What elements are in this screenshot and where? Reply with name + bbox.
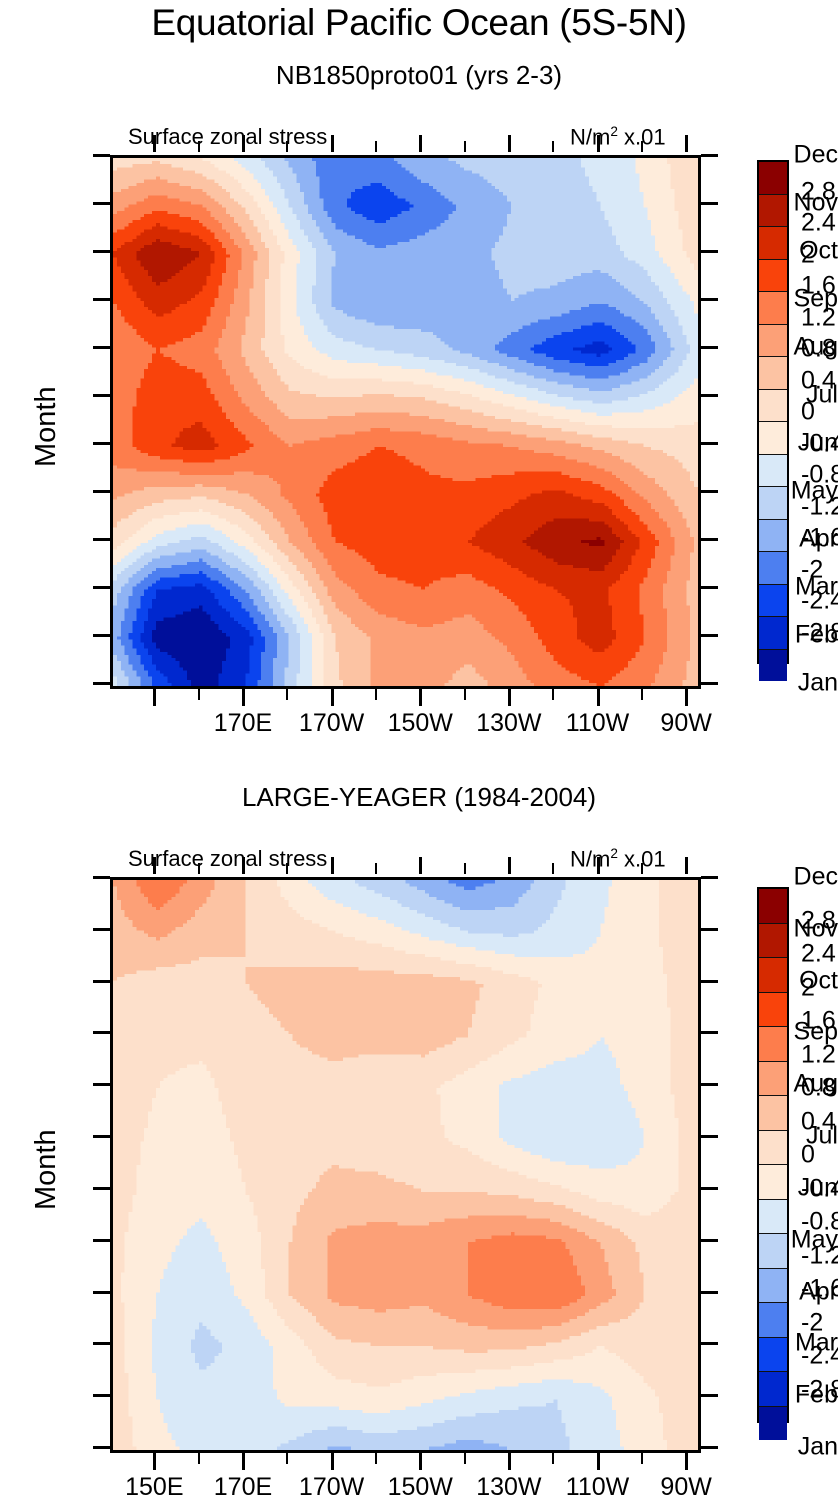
colorbar-tick-label: 2.4 [801,209,836,238]
colorbar-band [759,1233,787,1268]
x-axis-tick-mark [685,1453,688,1470]
colorbar-band [759,291,787,324]
y-axis-tick-mark-right [701,876,718,879]
colorbar-tick-label: 1.2 [801,303,836,332]
y-axis-tick-mark-right [701,394,718,397]
colorbar-band [759,1164,787,1199]
y-axis-tick-mark [93,394,110,397]
x-axis-minor-tick [552,689,554,700]
hovmoller-panel-top: Surface zonal stressN/m2 x.01DecNovOctSe… [0,0,838,770]
colorbar-band [759,1026,787,1061]
colorbar-tick-label: -2.8 [801,618,838,647]
units-label: N/m2 x.01 [570,846,666,872]
y-axis-tick-mark-right [701,1187,718,1190]
colorbar-tick-label: -0.4 [801,429,838,458]
y-axis-tick-mark [93,1394,110,1397]
x-axis-tick-mark-top [597,857,600,874]
colorbar-tick-label: -2.8 [801,1375,838,1404]
x-axis-minor-tick [375,141,377,152]
colorbar-band [759,616,787,649]
y-axis-tick-mark [93,346,110,349]
colorbar-band [759,1061,787,1096]
x-axis-minor-tick [286,141,288,152]
colorbar-tick-label: 0.8 [801,335,836,364]
colorbar-tick-label: 2.8 [801,177,836,206]
colorbar-band [759,486,787,519]
x-axis-tick-mark-top [153,135,156,152]
x-axis-minor-tick [464,689,466,700]
x-axis-tick-mark [419,689,422,706]
colorbar-band [759,259,787,292]
colorbar-tick-label: -2.4 [801,1342,838,1371]
y-axis-title: Month [30,386,63,467]
x-axis-tick-mark [153,1453,156,1470]
y-axis-tick-mark [93,490,110,493]
x-axis-tick-label: 90W [660,1473,711,1502]
colorbar-band [759,923,787,958]
contour-plot-area [110,877,701,1453]
colorbar-tick-label: -2 [801,1308,823,1337]
colorbar-tick-label: 1.2 [801,1040,836,1069]
y-axis-tick-mark-right [701,202,718,205]
x-axis-minor-tick [464,141,466,152]
colorbar-band [759,1337,787,1372]
x-axis-minor-tick [286,689,288,700]
x-axis-tick-mark-top [419,857,422,874]
x-axis-tick-mark-top [242,135,245,152]
x-axis-tick-mark-top [419,135,422,152]
x-axis-minor-tick [198,141,200,152]
x-axis-minor-tick [198,863,200,874]
x-axis-minor-tick [552,141,554,152]
x-axis-tick-label: 150E [125,1473,183,1502]
y-axis-tick-mark [93,1083,110,1086]
colorbar-band [759,356,787,389]
y-axis-tick-mark-right [701,250,718,253]
y-axis-tick-mark [93,586,110,589]
y-axis-tick-mark [93,1291,110,1294]
colorbar-band [759,162,787,194]
colorbar-tick-label: -0.8 [801,461,838,490]
x-axis-tick-mark-top [331,857,334,874]
x-axis-tick-mark-top [508,857,511,874]
y-axis-tick-mark [93,1342,110,1345]
x-axis-minor-tick [464,1453,466,1464]
colorbar-band [759,584,787,617]
y-axis-tick-mark [93,1135,110,1138]
x-axis-minor-tick [464,863,466,874]
colorbar-tick-label: -1.6 [801,1275,838,1304]
x-axis-tick-mark [685,689,688,706]
colorbar-band [759,551,787,584]
y-axis-tick-mark [93,1031,110,1034]
x-axis-tick-mark-top [597,135,600,152]
x-axis-tick-label: 130W [476,1473,541,1502]
y-axis-title: Month [30,1129,63,1210]
colorbar-tick-label: 2 [801,973,815,1002]
colorbar-band [759,226,787,259]
y-axis-tick-mark-right [701,154,718,157]
colorbar-tick-label: 0.8 [801,1074,836,1103]
colorbar-tick-label: -2.4 [801,587,838,616]
y-axis-tick-mark-right [701,1031,718,1034]
colorbar [757,160,789,664]
y-axis-tick-mark-right [701,490,718,493]
field-name-label: Surface zonal stress [128,124,327,150]
y-axis-tick-mark [93,1187,110,1190]
colorbar-band [759,649,787,682]
field-name-label: Surface zonal stress [128,846,327,872]
y-axis-tick-mark [93,154,110,157]
colorbar-tick-label: -0.8 [801,1208,838,1237]
colorbar-tick-label: 1.6 [801,1007,836,1036]
units-label: N/m2 x.01 [570,124,666,150]
x-axis-minor-tick [198,1453,200,1464]
x-axis-tick-mark [331,689,334,706]
colorbar-tick-label: -2 [801,555,823,584]
colorbar-tick-label: -1.6 [801,524,838,553]
y-axis-tick-mark-right [701,634,718,637]
colorbar-band [759,1268,787,1303]
y-axis-tick-mark [93,538,110,541]
colorbar-band [759,1406,787,1441]
hovmoller-panel-bottom: Surface zonal stressN/m2 x.01DecNovOctSe… [0,722,838,1509]
colorbar [757,887,789,1423]
colorbar-band [759,1199,787,1234]
y-axis-tick-mark-right [701,682,718,685]
x-axis-minor-tick [286,1453,288,1464]
y-axis-tick-mark-right [701,1342,718,1345]
x-axis-tick-label: 150W [388,1473,453,1502]
y-axis-tick-mark-right [701,1239,718,1242]
y-axis-tick-mark [93,442,110,445]
x-axis-tick-mark [242,689,245,706]
x-axis-minor-tick [198,689,200,700]
x-axis-tick-mark [597,1453,600,1470]
x-axis-tick-mark [331,1453,334,1470]
y-axis-tick-mark-right [701,1135,718,1138]
y-axis-tick-mark [93,250,110,253]
x-axis-tick-mark [508,1453,511,1470]
x-axis-tick-label: 110W [566,1473,629,1502]
x-axis-minor-tick [286,863,288,874]
colorbar-band [759,421,787,454]
x-axis-tick-label: 170W [299,1473,364,1502]
y-axis-tick-mark-right [701,586,718,589]
colorbar-tick-label: 2.8 [801,906,836,935]
x-axis-tick-mark-top [685,135,688,152]
colorbar-band [759,992,787,1027]
colorbar-band [759,957,787,992]
y-axis-tick-mark-right [701,1291,718,1294]
x-axis-minor-tick [641,863,643,874]
colorbar-band [759,1371,787,1406]
x-axis-minor-tick [375,863,377,874]
y-axis-tick-mark-right [701,442,718,445]
colorbar-tick-label: -1.2 [801,492,838,521]
x-axis-minor-tick [641,141,643,152]
x-axis-tick-mark-top [153,857,156,874]
colorbar-band [759,519,787,552]
colorbar-tick-label: 0 [801,1141,815,1170]
y-axis-tick-mark-right [701,1394,718,1397]
colorbar-tick-label: 1.6 [801,272,836,301]
colorbar-band [759,194,787,227]
x-axis-minor-tick [641,1453,643,1464]
y-axis-tick-mark-right [701,298,718,301]
colorbar-tick-label: 2 [801,240,815,269]
x-axis-tick-mark [419,1453,422,1470]
x-axis-tick-mark [597,689,600,706]
x-axis-tick-mark-top [331,135,334,152]
x-axis-tick-mark-top [685,857,688,874]
contour-plot-area [110,155,701,689]
y-axis-tick-mark-right [701,346,718,349]
y-axis-tick-mark [93,634,110,637]
x-axis-minor-tick [641,689,643,700]
x-axis-minor-tick [552,863,554,874]
x-axis-tick-mark [508,689,511,706]
colorbar-band [759,389,787,422]
y-axis-tick-mark [93,682,110,685]
y-axis-tick-mark [93,876,110,879]
y-axis-tick-mark [93,1239,110,1242]
x-axis-minor-tick [375,689,377,700]
y-axis-tick-mark [93,928,110,931]
colorbar-band [759,1302,787,1337]
x-axis-tick-label: 170E [214,1473,272,1502]
colorbar-band [759,1095,787,1130]
colorbar-tick-label: 0 [801,398,815,427]
colorbar-tick-label: -1.2 [801,1241,838,1270]
y-axis-tick-mark [93,1446,110,1449]
colorbar-band [759,1130,787,1165]
y-axis-tick-mark [93,298,110,301]
x-axis-tick-mark [153,689,156,706]
y-axis-tick-mark [93,202,110,205]
x-axis-tick-mark [242,1453,245,1470]
colorbar-band [759,889,787,923]
x-axis-minor-tick [375,1453,377,1464]
colorbar-tick-label: 0.4 [801,366,836,395]
colorbar-tick-label: 0.4 [801,1107,836,1136]
x-axis-tick-mark-top [508,135,511,152]
y-axis-tick-mark-right [701,1446,718,1449]
y-axis-tick-mark [93,980,110,983]
x-axis-tick-mark-top [242,857,245,874]
y-axis-tick-mark-right [701,1083,718,1086]
colorbar-tick-label: -0.4 [801,1174,838,1203]
x-axis-minor-tick [552,1453,554,1464]
colorbar-tick-label: 2.4 [801,940,836,969]
y-axis-tick-mark-right [701,538,718,541]
colorbar-band [759,324,787,357]
colorbar-band [759,454,787,487]
y-axis-tick-mark-right [701,928,718,931]
y-axis-tick-mark-right [701,980,718,983]
